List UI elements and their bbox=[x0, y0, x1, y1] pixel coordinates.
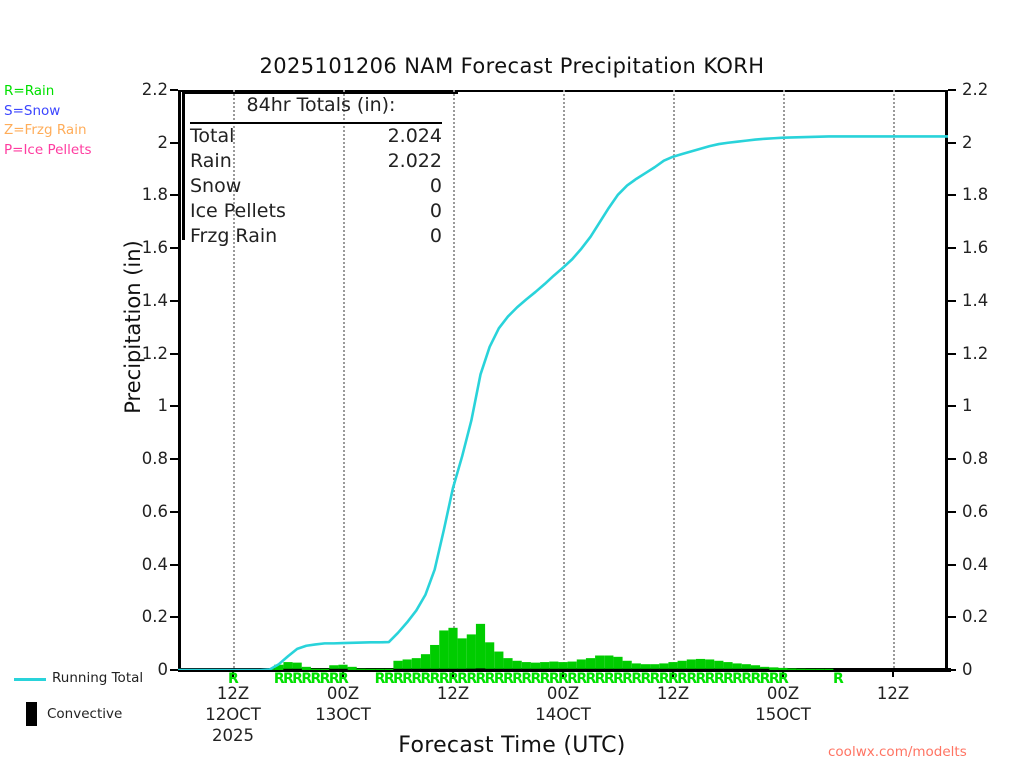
legend-item-frzg-rain: Z=Frzg Rain bbox=[4, 121, 92, 141]
y-tick-mark bbox=[948, 511, 956, 513]
running-total-legend-label: Running Total bbox=[52, 670, 143, 686]
y-tick-mark bbox=[948, 247, 956, 249]
y-tick-mark bbox=[948, 405, 956, 407]
y-tick-label: 0.2 bbox=[962, 607, 1008, 626]
y-tick-mark bbox=[170, 247, 178, 249]
y-tick-label: 0.2 bbox=[122, 607, 168, 626]
y-tick-label: 2.2 bbox=[962, 80, 1008, 99]
y-tick-mark bbox=[170, 353, 178, 355]
y-axis-title: Precipitation (in) bbox=[121, 162, 145, 492]
legend-item-ice-pellets: P=Ice Pellets bbox=[4, 141, 92, 161]
legend-item-rain: R=Rain bbox=[4, 82, 92, 102]
y-tick-label: 1.8 bbox=[122, 185, 168, 204]
y-tick-label: 1 bbox=[122, 396, 168, 415]
precip-type-legend: R=Rain S=Snow Z=Frzg Rain P=Ice Pellets bbox=[4, 82, 92, 160]
y-tick-mark bbox=[948, 194, 956, 196]
y-tick-label: 1.6 bbox=[962, 238, 1008, 257]
totals-row-value: 0 bbox=[250, 224, 442, 249]
y-tick-mark bbox=[948, 142, 956, 144]
y-tick-mark bbox=[170, 194, 178, 196]
convective-bar-swatch bbox=[26, 702, 37, 726]
y-tick-label: 0.6 bbox=[962, 502, 1008, 521]
y-tick-label: 0.8 bbox=[962, 449, 1008, 468]
y-tick-label: 0.6 bbox=[122, 502, 168, 521]
totals-row-value: 0 bbox=[250, 199, 442, 224]
y-tick-mark bbox=[948, 89, 956, 91]
y-tick-mark bbox=[170, 142, 178, 144]
precip-type-marker: R bbox=[833, 672, 844, 686]
totals-header: 84hr Totals (in): bbox=[196, 94, 446, 116]
y-tick-label: 1.2 bbox=[962, 344, 1008, 363]
page-title: 2025101206 NAM Forecast Precipitation KO… bbox=[0, 54, 1024, 78]
totals-row-value: 2.024 bbox=[250, 124, 442, 149]
y-tick-mark bbox=[948, 458, 956, 460]
x-tick-label-year: 2025 bbox=[188, 726, 278, 745]
y-tick-label: 0.4 bbox=[962, 555, 1008, 574]
precip-type-row: RRRRRRRRRRRRRRRRRRRRRRRRRRRRRRRRRRRRRRRR… bbox=[178, 668, 948, 690]
y-tick-mark bbox=[170, 89, 178, 91]
y-tick-label: 1.4 bbox=[122, 291, 168, 310]
y-tick-mark bbox=[170, 511, 178, 513]
y-tick-mark bbox=[170, 458, 178, 460]
precip-type-marker: R bbox=[228, 672, 239, 686]
x-tick-label-date: 15OCT bbox=[738, 705, 828, 724]
x-tick-label-date: 13OCT bbox=[298, 705, 388, 724]
y-tick-label: 1.4 bbox=[962, 291, 1008, 310]
running-total-line-swatch bbox=[14, 678, 46, 681]
x-tick-label-date: 12OCT bbox=[188, 705, 278, 724]
y-tick-label: 1.6 bbox=[122, 238, 168, 257]
totals-row-value: 2.022 bbox=[250, 149, 442, 174]
convective-legend-label: Convective bbox=[47, 706, 122, 722]
y-tick-label: 0.8 bbox=[122, 449, 168, 468]
legend-item-snow: S=Snow bbox=[4, 102, 92, 122]
x-tick-label-date: 14OCT bbox=[518, 705, 608, 724]
y-tick-label: 0 bbox=[962, 660, 1008, 679]
watermark: coolwx.com/modelts bbox=[828, 744, 967, 760]
y-tick-mark bbox=[948, 564, 956, 566]
y-tick-mark bbox=[170, 405, 178, 407]
y-tick-label: 1.8 bbox=[962, 185, 1008, 204]
y-tick-label: 1.2 bbox=[122, 344, 168, 363]
y-tick-mark bbox=[170, 564, 178, 566]
y-tick-mark bbox=[170, 669, 178, 671]
y-tick-mark bbox=[170, 616, 178, 618]
y-tick-label: 2.2 bbox=[122, 80, 168, 99]
y-tick-mark bbox=[948, 353, 956, 355]
y-tick-label: 2 bbox=[962, 133, 1008, 152]
y-tick-mark bbox=[948, 616, 956, 618]
y-tick-label: 0.4 bbox=[122, 555, 168, 574]
y-tick-label: 1 bbox=[962, 396, 1008, 415]
y-tick-mark bbox=[948, 300, 956, 302]
precip-type-marker: R bbox=[338, 672, 349, 686]
y-tick-label: 2 bbox=[122, 133, 168, 152]
precip-type-marker: R bbox=[778, 672, 789, 686]
totals-row-value: 0 bbox=[250, 174, 442, 199]
y-tick-mark bbox=[948, 669, 956, 671]
y-tick-mark bbox=[170, 300, 178, 302]
